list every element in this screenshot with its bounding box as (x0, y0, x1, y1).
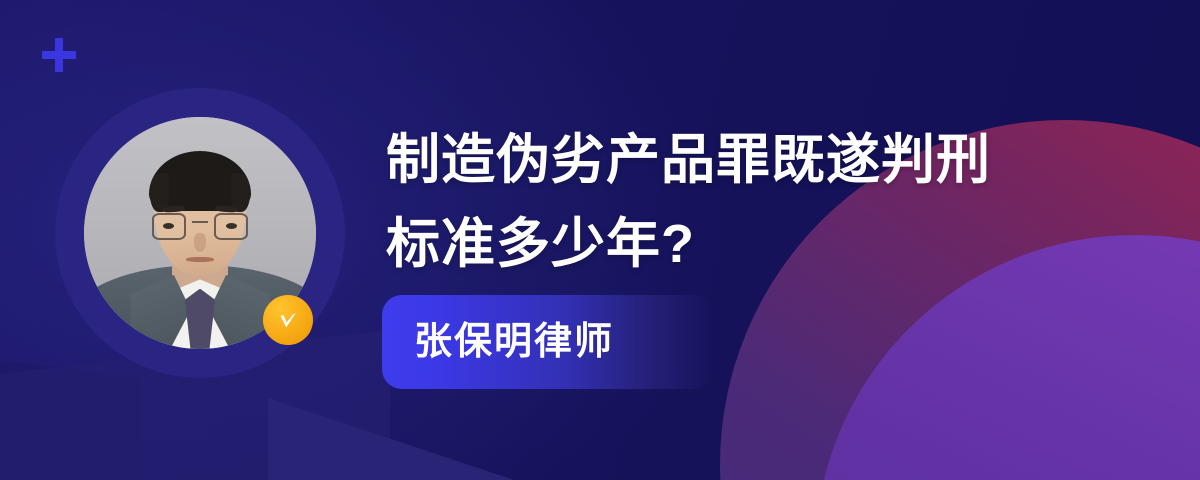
legal-question-banner: 制造伪劣产品罪既遂判刑 标准多少年? 张保明律师 (0, 0, 1200, 480)
author-badge[interactable]: 张保明律师 (382, 295, 714, 389)
avatar[interactable] (55, 88, 345, 378)
plus-icon (42, 38, 76, 72)
headline-block: 制造伪劣产品罪既遂判刑 标准多少年? (386, 118, 1146, 286)
page-title: 制造伪劣产品罪既遂判刑 标准多少年? (386, 118, 1146, 286)
portrait-nose (194, 233, 206, 252)
portrait-glasses-left (152, 213, 186, 240)
verified-check-icon (263, 295, 313, 345)
portrait-glasses-bridge (192, 221, 208, 223)
author-name-label: 张保明律师 (414, 323, 614, 361)
portrait-glasses-right (214, 213, 248, 240)
decorative-triangle (268, 398, 598, 480)
portrait-mouth (186, 257, 214, 261)
